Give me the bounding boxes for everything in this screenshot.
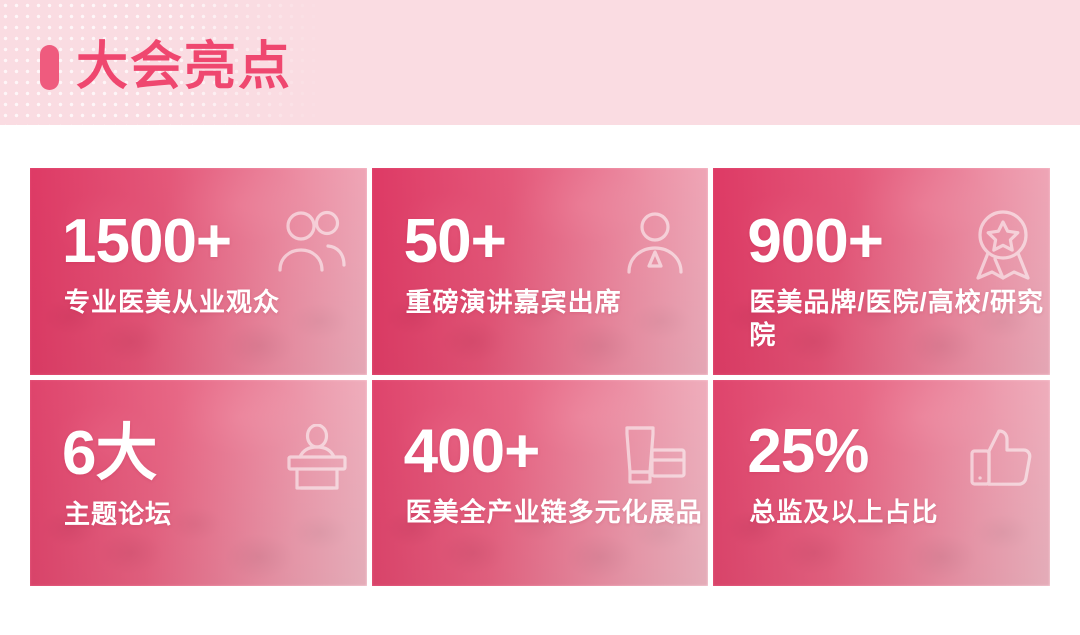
highlight-number: 50+: [404, 210, 506, 274]
highlight-number: 1500+: [62, 210, 231, 274]
thumbs-up-icon: [967, 424, 1039, 490]
highlight-number: 900+: [747, 210, 883, 274]
page-header: 大会亮点: [0, 0, 1080, 125]
highlight-card-attendees[interactable]: 1500+ 专业医美从业观众: [30, 168, 367, 375]
users-icon: [273, 208, 349, 278]
podium-icon: [283, 424, 351, 492]
highlight-card-exhibits[interactable]: 400+ 医美全产业链多元化展品: [372, 380, 709, 587]
highlight-card-forums[interactable]: 6大 主题论坛: [30, 380, 367, 587]
page-title: 大会亮点: [76, 38, 292, 96]
highlight-card-brands[interactable]: 900+ 医美品牌/医院/高校/研究院: [713, 168, 1050, 375]
highlight-number: 400+: [404, 420, 540, 484]
highlight-description: 主题论坛: [64, 498, 172, 531]
highlight-number: 25%: [747, 420, 868, 484]
highlight-description: 医美品牌/医院/高校/研究院: [749, 286, 1050, 352]
highlight-description: 重磅演讲嘉宾出席: [406, 286, 622, 319]
highlight-number: 6大: [62, 422, 156, 486]
highlight-description: 总监及以上占比: [749, 496, 938, 529]
person-icon: [620, 208, 690, 278]
highlight-card-speakers[interactable]: 50+ 重磅演讲嘉宾出席: [372, 168, 709, 375]
highlight-description: 医美全产业链多元化展品: [406, 496, 703, 529]
highlights-grid: 1500+ 专业医美从业观众 50+ 重磅演讲嘉宾出席: [30, 168, 1050, 586]
highlight-description: 专业医美从业观众: [64, 286, 280, 319]
highlight-card-directors[interactable]: 25% 总监及以上占比: [713, 380, 1050, 587]
title-accent-bar: [40, 45, 59, 90]
medal-icon: [968, 208, 1038, 282]
cosmetics-icon: [615, 424, 689, 490]
